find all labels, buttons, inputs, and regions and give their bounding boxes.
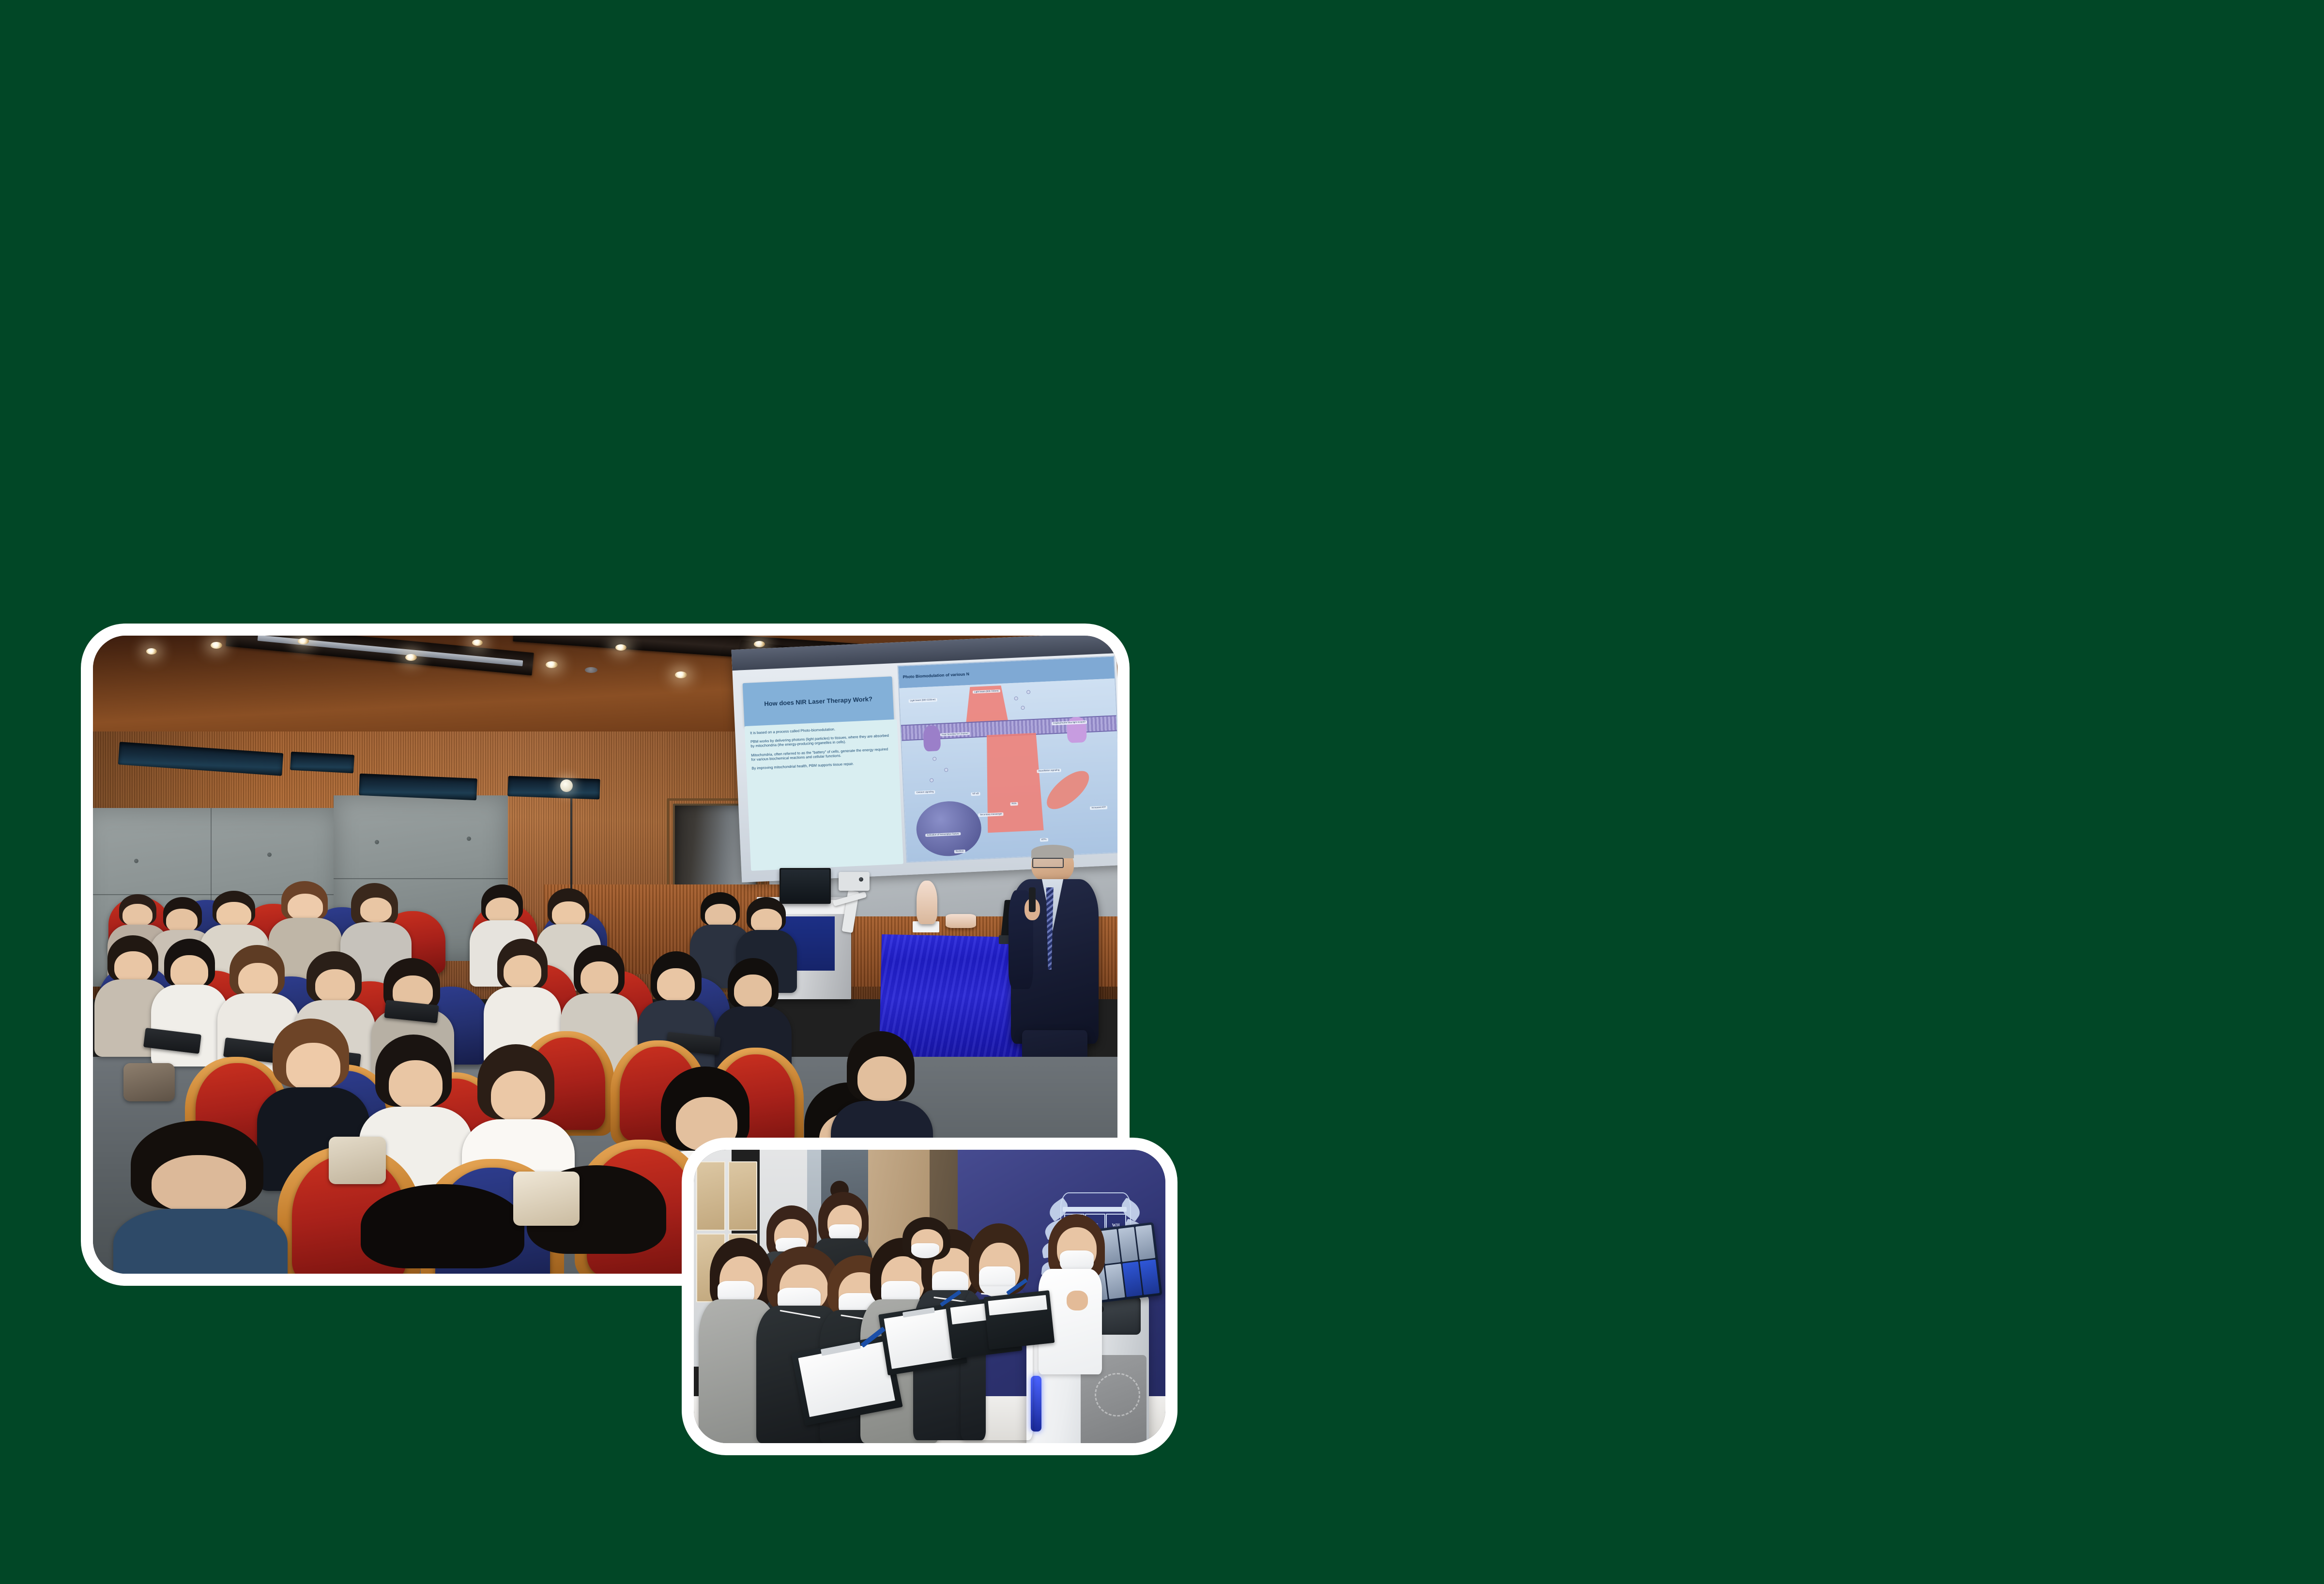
diagram-label: Increased ATP xyxy=(1090,806,1107,809)
handbag xyxy=(513,1172,580,1226)
diagram-intracellular-beam xyxy=(983,732,1044,833)
slide-paragraph: By improving mitochondrial health, PBM s… xyxy=(751,760,894,771)
slide-diagram: Photo Biomodulation of various N xyxy=(897,655,1117,863)
document-camera-lens xyxy=(859,877,863,882)
clipboard xyxy=(984,1290,1055,1350)
person-torso xyxy=(113,1209,288,1274)
device-demonstrator xyxy=(1043,1214,1114,1396)
slide-title-text: How does NIR Laser Therapy Work? xyxy=(764,696,872,708)
diagram-label: ROS xyxy=(1010,802,1018,806)
monitor-screen xyxy=(781,869,829,900)
anatomical-knee-model xyxy=(917,881,937,924)
person-head xyxy=(315,969,355,1003)
handbag xyxy=(123,1063,175,1101)
crest-top-bar xyxy=(1063,1207,1127,1212)
handbag xyxy=(329,1137,386,1185)
stand-lamp xyxy=(560,779,573,792)
slide-paragraph: Mitochondria, often referred to as the "… xyxy=(751,746,893,762)
person-head xyxy=(166,909,198,932)
diagram-photon xyxy=(1021,705,1024,709)
person-head xyxy=(486,898,519,923)
person-head xyxy=(114,951,152,983)
diagram-calcium-ion xyxy=(933,757,936,761)
person-head xyxy=(705,904,736,928)
concrete-tie-hole xyxy=(267,853,272,857)
staff-face-mask xyxy=(911,1243,939,1259)
person-hair xyxy=(361,1184,524,1268)
tablet-thumbnail-selected[interactable] xyxy=(1140,1259,1160,1295)
staff-training-photo: CH AT WH xyxy=(694,1150,1165,1443)
person-head xyxy=(286,1043,340,1091)
audience-member-foreground xyxy=(113,1121,288,1274)
slide-title-block: How does NIR Laser Therapy Work? xyxy=(742,676,894,727)
wall-acoustic-slot xyxy=(507,776,600,799)
plaque xyxy=(728,1161,757,1230)
tablet-thumbnail[interactable] xyxy=(1135,1224,1155,1260)
person-head xyxy=(504,955,541,989)
person-head xyxy=(581,961,618,995)
concrete-tie-hole xyxy=(375,840,379,844)
person-head xyxy=(216,902,251,928)
diagram-title-text: Photo Biomodulation of various N xyxy=(902,671,969,679)
diagram-membrane-protein xyxy=(923,725,941,751)
diagram-calcium-ion xyxy=(944,768,948,772)
person-head xyxy=(288,894,323,920)
ceiling-vent xyxy=(585,667,597,673)
person-head xyxy=(238,963,278,996)
diagram-photon xyxy=(1014,696,1018,700)
tablet-thumbnail-selected[interactable] xyxy=(1123,1262,1143,1297)
person-head xyxy=(360,898,392,922)
concrete-tie-hole xyxy=(134,859,138,863)
person-head xyxy=(657,968,695,1002)
concrete-seam xyxy=(334,878,508,879)
slide-body-block: It is based on a process called Photo-bi… xyxy=(744,719,903,870)
person-head xyxy=(170,955,208,989)
wall-acoustic-slot xyxy=(290,751,354,773)
person-head xyxy=(857,1056,907,1101)
diagram-label: NF-κB xyxy=(971,792,980,796)
staff-training-photo-card[interactable]: CH AT WH xyxy=(682,1138,1177,1455)
person-head xyxy=(751,909,782,932)
downlight xyxy=(472,640,483,646)
downlight xyxy=(546,661,558,668)
diagram-label: Nucleus xyxy=(954,849,965,853)
person-head xyxy=(389,1060,443,1109)
presenter-microphone xyxy=(1029,887,1036,912)
downlight xyxy=(675,671,687,678)
demonstrator-hand xyxy=(1067,1291,1088,1310)
presenter-glasses xyxy=(1032,858,1064,868)
diagram-label: ATPs xyxy=(1040,838,1048,841)
document-camera-head xyxy=(839,872,869,891)
person-head xyxy=(734,975,772,1008)
person-head xyxy=(552,901,585,927)
downlight xyxy=(754,641,765,647)
clipboard-paper xyxy=(798,1341,895,1417)
presenter-hair xyxy=(1031,845,1074,858)
plaque xyxy=(696,1161,725,1230)
slide-paragraph: PBM works by delivering photons (light p… xyxy=(750,733,893,748)
anatomical-bone-model xyxy=(946,914,976,928)
slide-paragraph: It is based on a process called Photo-bi… xyxy=(750,724,892,735)
diagram-calcium-ion xyxy=(929,778,933,782)
tablet-thumbnail[interactable] xyxy=(1118,1227,1138,1262)
person-head xyxy=(491,1071,545,1121)
clipboard-paper xyxy=(988,1295,1048,1316)
clinic-training-scene: CH AT WH xyxy=(694,1150,1165,1443)
person-head xyxy=(152,1155,245,1213)
